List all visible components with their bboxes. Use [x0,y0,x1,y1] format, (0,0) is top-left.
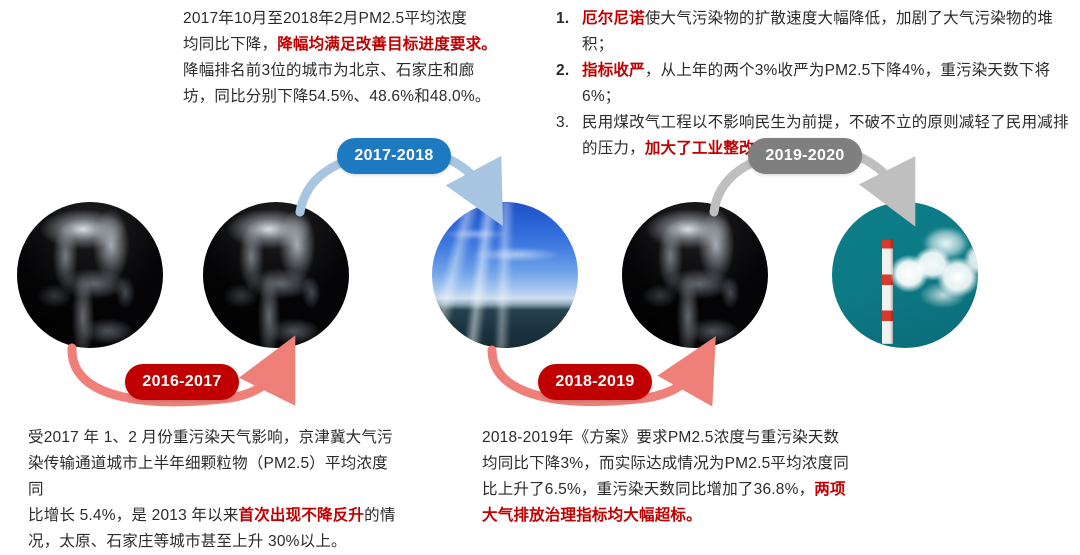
period-badge-label: 2016-2017 [142,373,221,391]
period-badge-2016-2017[interactable]: 2016-2017 [125,364,239,400]
period-badge-2019-2020[interactable]: 2019-2020 [748,138,862,174]
infographic-canvas: 2016-2017 2017-2018 2018-2019 2019-2020 … [0,0,1080,539]
period-badge-2018-2019[interactable]: 2018-2019 [538,364,652,400]
period-badge-label: 2018-2019 [555,373,634,391]
period-badge-label: 2019-2020 [765,147,844,165]
arrow-layer [0,0,1080,539]
period-badge-2017-2018[interactable]: 2017-2018 [337,138,451,174]
period-badge-label: 2017-2018 [354,147,433,165]
